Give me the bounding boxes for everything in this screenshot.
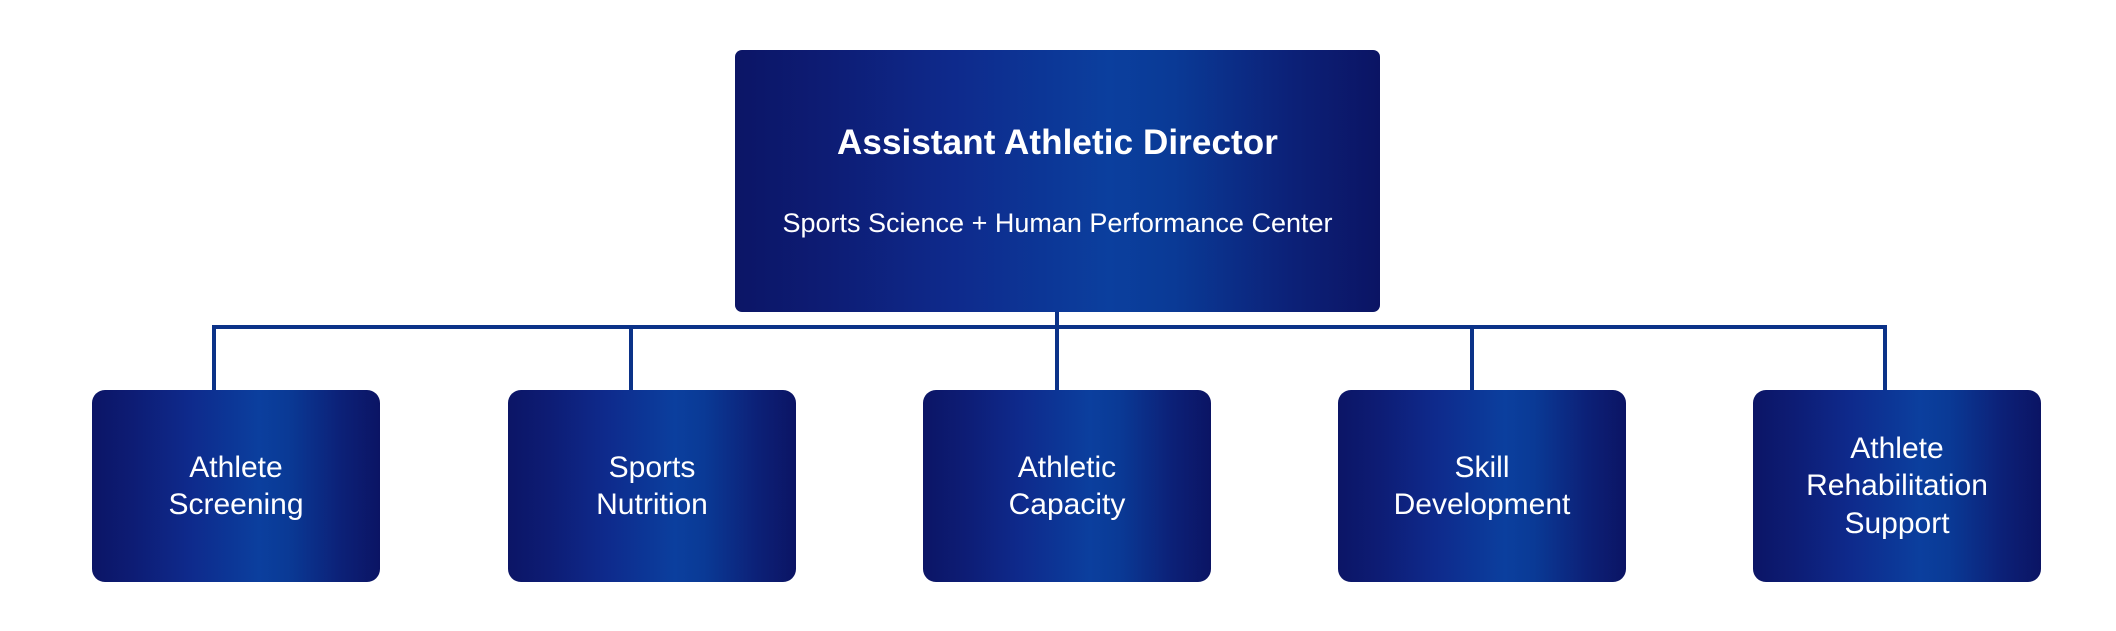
connector-leg-child-3 <box>1055 327 1059 392</box>
child-node-label: Athlete Rehabilitation Support <box>1806 430 1988 543</box>
root-node-title: Assistant Athletic Director <box>837 123 1278 163</box>
node-athlete-screening[interactable]: Athlete Screening <box>92 390 380 582</box>
child-node-label: Athlete Screening <box>168 449 303 524</box>
node-athletic-capacity[interactable]: Athletic Capacity <box>923 390 1211 582</box>
node-skill-development[interactable]: Skill Development <box>1338 390 1626 582</box>
root-node-subtitle: Sports Science + Human Performance Cente… <box>782 207 1332 239</box>
node-sports-nutrition[interactable]: Sports Nutrition <box>508 390 796 582</box>
connector-leg-child-5 <box>1883 327 1887 392</box>
connector-horizontal-bus <box>212 325 1887 329</box>
child-node-label: Skill Development <box>1394 449 1571 524</box>
child-node-label: Athletic Capacity <box>1009 449 1126 524</box>
child-node-label: Sports Nutrition <box>596 449 708 524</box>
connector-leg-child-4 <box>1470 327 1474 392</box>
connector-leg-child-2 <box>629 327 633 392</box>
node-assistant-athletic-director[interactable]: Assistant Athletic Director Sports Scien… <box>735 50 1380 312</box>
org-chart-canvas: Assistant Athletic Director Sports Scien… <box>0 0 2116 631</box>
node-athlete-rehabilitation-support[interactable]: Athlete Rehabilitation Support <box>1753 390 2041 582</box>
connector-leg-child-1 <box>212 327 216 392</box>
